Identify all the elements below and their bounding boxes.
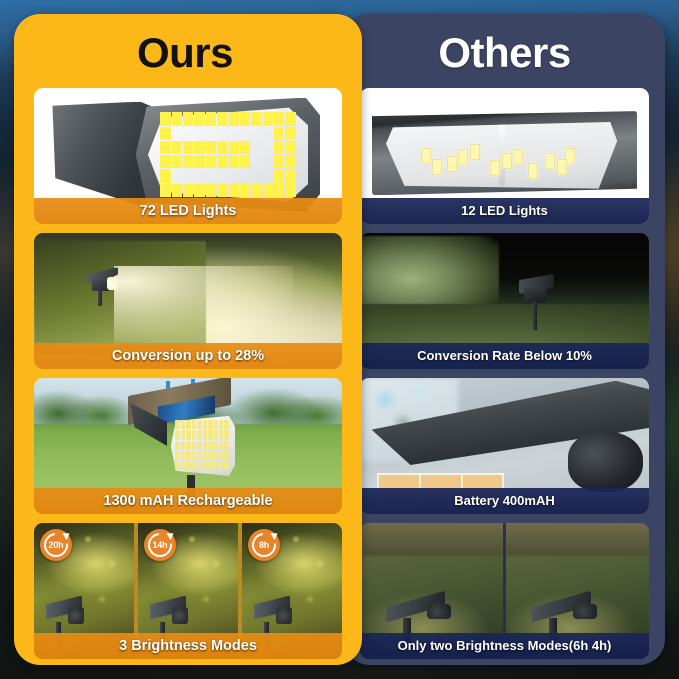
- ours-card-list: 72 LED Lights Conversion up to 28%: [26, 88, 350, 659]
- runtime-badge-14h: 14h: [144, 529, 176, 561]
- card-label-ours-battery: 1300 mAH Rechargeable: [34, 488, 342, 514]
- runtime-badge-label: 8h: [259, 540, 269, 550]
- card-label-others-battery: Battery 400mAH: [360, 488, 649, 514]
- led-array: [160, 112, 296, 196]
- panel-title-others: Others: [356, 14, 653, 88]
- runtime-badge-label: 14h: [153, 540, 168, 550]
- card-ours-brightness-modes[interactable]: 20h 14h: [34, 523, 342, 659]
- panel-title-ours: Ours: [26, 14, 350, 88]
- others-card-list: 12 LED Lights Conversion Rate Below 10%: [356, 88, 653, 659]
- runtime-badge-label: 20h: [49, 540, 64, 550]
- runtime-badge-8h: 8h: [248, 529, 280, 561]
- card-others-led-count[interactable]: 12 LED Lights: [360, 88, 649, 224]
- card-label-ours-conversion-rate: Conversion up to 28%: [34, 343, 342, 369]
- card-others-conversion-rate[interactable]: Conversion Rate Below 10%: [360, 233, 649, 369]
- comparison-panel-others: Others 12 LED Lights: [344, 14, 665, 665]
- runtime-badge-20h: 20h: [40, 529, 72, 561]
- card-others-brightness-modes[interactable]: Only two Brightness Modes(6h 4h): [360, 523, 649, 659]
- card-label-ours-led-count: 72 LED Lights: [34, 198, 342, 224]
- card-label-others-conversion-rate: Conversion Rate Below 10%: [360, 343, 649, 369]
- card-label-ours-brightness-modes: 3 Brightness Modes: [34, 633, 342, 659]
- card-ours-conversion-rate[interactable]: Conversion up to 28%: [34, 233, 342, 369]
- card-ours-battery[interactable]: 1300 mAH Rechargeable: [34, 378, 342, 514]
- card-others-battery[interactable]: Battery 400mAH: [360, 378, 649, 514]
- card-ours-led-count[interactable]: 72 LED Lights: [34, 88, 342, 224]
- card-label-others-led-count: 12 LED Lights: [360, 198, 649, 224]
- card-label-others-brightness-modes: Only two Brightness Modes(6h 4h): [360, 633, 649, 659]
- comparison-panel-ours: Ours 72 LED Lights: [14, 14, 362, 665]
